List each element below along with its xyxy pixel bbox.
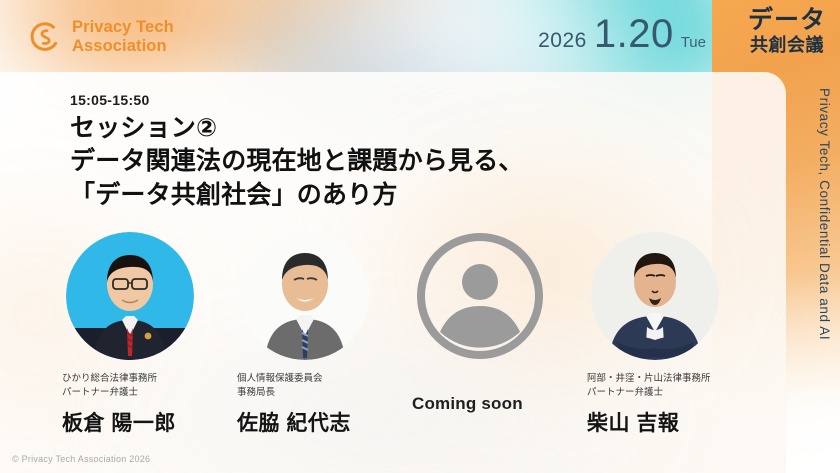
sidebar-vertical-label: Privacy Tech, Confidential Data and AI <box>817 88 832 340</box>
spacer <box>412 360 587 382</box>
event-logo: データ 共創会議 <box>748 8 826 54</box>
speaker-photo-shibayama-icon <box>591 232 719 360</box>
speaker-card: 阿部・井窪・片山法律事務所 パートナー弁護士 柴山 吉報 <box>587 232 762 437</box>
event-logo-line1: データ <box>748 8 826 34</box>
session-title-line-1: セッション② <box>70 112 524 145</box>
privacy-tech-spiral-logo-icon <box>28 20 62 54</box>
speaker-name: 佐脇 紀代志 <box>237 407 412 437</box>
speaker-card: 個人情報保護委員会 事務局長 佐脇 紀代志 <box>237 232 412 437</box>
session-title-line-2: データ関連法の現在地と課題から見る、 <box>70 145 524 178</box>
presentation-slide: Privacy Tech Association 2026 1.20 Tue デ… <box>0 0 840 473</box>
speaker-photo-itakura-icon <box>66 232 194 360</box>
speaker-name: 柴山 吉報 <box>587 407 762 437</box>
session-block: 15:05-15:50 セッション② データ関連法の現在地と課題から見る、 「デ… <box>70 92 524 212</box>
date-weekday: Tue <box>681 34 706 51</box>
person-placeholder-icon <box>416 232 544 360</box>
footer-copyright: © Privacy Tech Association 2026 <box>12 454 150 464</box>
speaker-photo-sawaki-icon <box>241 232 369 360</box>
session-title-line-3: 「データ共創社会」のあり方 <box>70 179 524 212</box>
speaker-affiliation: 個人情報保護委員会 事務局長 <box>237 372 412 400</box>
session-time: 15:05-15:50 <box>70 92 524 108</box>
speakers-row: ひかり総合法律事務所 パートナー弁護士 板倉 陽一郎 <box>62 232 762 437</box>
date-day: 1.20 <box>594 14 674 54</box>
coming-soon-label: Coming soon <box>412 394 587 414</box>
date-year: 2026 <box>538 29 587 53</box>
event-date: 2026 1.20 Tue <box>538 14 706 54</box>
speaker-affiliation: ひかり総合法律事務所 パートナー弁護士 <box>62 372 237 400</box>
session-title: セッション② データ関連法の現在地と課題から見る、 「データ共創社会」のあり方 <box>70 112 524 212</box>
brand-lockup: Privacy Tech Association <box>28 18 174 57</box>
slide-header: Privacy Tech Association 2026 1.20 Tue デ… <box>0 0 840 72</box>
brand-name: Privacy Tech Association <box>72 18 174 57</box>
speaker-affiliation: 阿部・井窪・片山法律事務所 パートナー弁護士 <box>587 372 762 400</box>
speaker-card: ひかり総合法律事務所 パートナー弁護士 板倉 陽一郎 <box>62 232 237 437</box>
speaker-card: Coming soon <box>412 232 587 437</box>
speaker-name: 板倉 陽一郎 <box>62 407 237 437</box>
event-logo-line2: 共創会議 <box>748 36 826 54</box>
